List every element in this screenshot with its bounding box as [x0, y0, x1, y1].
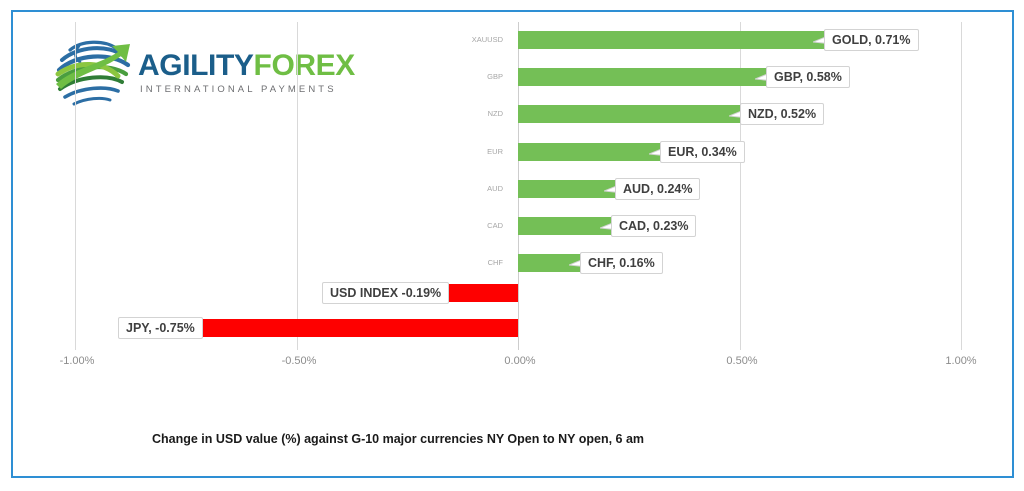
data-label-nzd: NZD, 0.52%	[740, 103, 824, 125]
bar-row-aud: AUD AUD, 0.24%	[0, 180, 1024, 198]
bar-chart: -1.00% -0.50% 0.00% 0.50% 1.00% XAUUSD G…	[0, 0, 1024, 491]
category-label-cad: CAD	[487, 217, 509, 235]
bar-row-gbp: GBP GBP, 0.58%	[0, 68, 1024, 86]
bar-eur[interactable]	[518, 143, 669, 161]
data-label-gbp: GBP, 0.58%	[766, 66, 850, 88]
category-label-xauusd: XAUUSD	[472, 31, 509, 49]
bar-jpy[interactable]	[186, 319, 518, 337]
bar-row-xauusd: XAUUSD GOLD, 0.71%	[0, 31, 1024, 49]
category-label-aud: AUD	[487, 180, 509, 198]
x-tick-label-1: -0.50%	[282, 355, 317, 367]
data-label-dxy: USD INDEX -0.19%	[322, 282, 449, 304]
data-label-xauusd: GOLD, 0.71%	[824, 29, 919, 51]
data-label-eur: EUR, 0.34%	[660, 141, 745, 163]
bar-row-jpy: JPY JPY, -0.75%	[0, 319, 1024, 337]
data-label-chf: CHF, 0.16%	[580, 252, 663, 274]
x-tick-label-0: -1.00%	[60, 355, 95, 367]
bar-gbp[interactable]	[518, 68, 775, 86]
bar-row-eur: EUR EUR, 0.34%	[0, 143, 1024, 161]
bar-xauusd[interactable]	[518, 31, 833, 49]
data-label-jpy: JPY, -0.75%	[118, 317, 203, 339]
bar-nzd[interactable]	[518, 105, 749, 123]
x-tick-label-4: 1.00%	[945, 355, 976, 367]
bar-row-cad: CAD CAD, 0.23%	[0, 217, 1024, 235]
bar-row-chf: CHF CHF, 0.16%	[0, 254, 1024, 272]
chart-caption: Change in USD value (%) against G-10 maj…	[152, 432, 644, 446]
data-label-aud: AUD, 0.24%	[615, 178, 700, 200]
category-label-nzd: NZD	[488, 105, 509, 123]
x-tick-label-3: 0.50%	[726, 355, 757, 367]
category-label-eur: EUR	[487, 143, 509, 161]
bar-row-nzd: NZD NZD, 0.52%	[0, 105, 1024, 123]
bar-row-dxy: DXY USD INDEX -0.19%	[0, 284, 1024, 302]
category-label-chf: CHF	[488, 254, 509, 272]
data-label-cad: CAD, 0.23%	[611, 215, 696, 237]
screenshot-root: AGILITYFOREX INTERNATIONAL PAYMENTS -1.0…	[0, 0, 1024, 491]
category-label-gbp: GBP	[487, 68, 509, 86]
x-tick-label-2: 0.00%	[504, 355, 535, 367]
